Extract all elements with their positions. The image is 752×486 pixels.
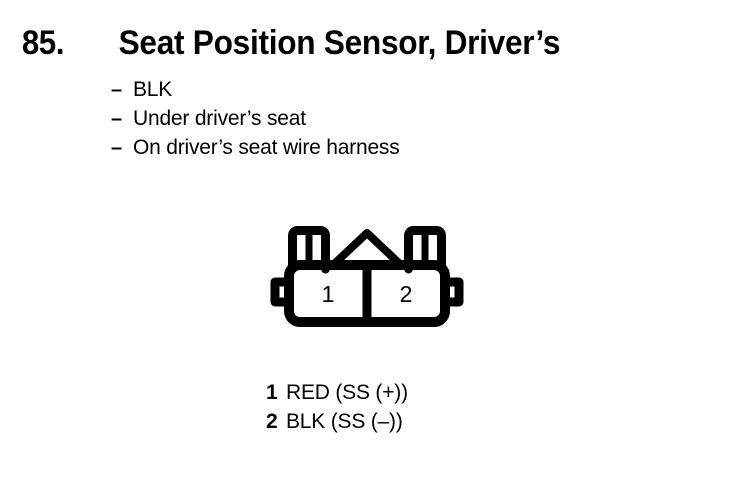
pin-legend: 1 RED (SS (+)) 2 BLK (SS (–)) [266,381,408,439]
dash-bullet-icon: – [111,79,133,102]
cavity-label-1: 1 [322,281,335,307]
pin-legend-number: 1 [266,381,286,405]
spec-item-label: On driver’s seat wire harness [133,136,400,160]
pin-legend-description: BLK (SS (–)) [286,410,403,434]
page-title-text: Seat Position Sensor, Driver’s [118,24,560,63]
pin-legend-description: RED (SS (+)) [286,381,408,405]
pin-legend-row: 1 RED (SS (+)) [266,381,408,410]
pin-legend-row: 2 BLK (SS (–)) [266,410,408,439]
spec-list-item: – On driver’s seat wire harness [111,136,400,165]
connector-diagram: 1 2 [262,214,472,334]
spec-list-item: – Under driver’s seat [111,107,400,136]
cavity-label-2: 2 [400,281,413,307]
page-title: 85. Seat Position Sensor, Driver’s [20,24,577,63]
spec-item-label: BLK [133,78,172,102]
dash-bullet-icon: – [111,137,133,160]
page-title-number: 85. [22,24,64,63]
spec-list: – BLK – Under driver’s seat – On driver’… [111,78,400,165]
pin-legend-number: 2 [266,410,286,434]
dash-bullet-icon: – [111,108,133,131]
spec-list-item: – BLK [111,78,400,107]
spec-item-label: Under driver’s seat [133,107,306,131]
